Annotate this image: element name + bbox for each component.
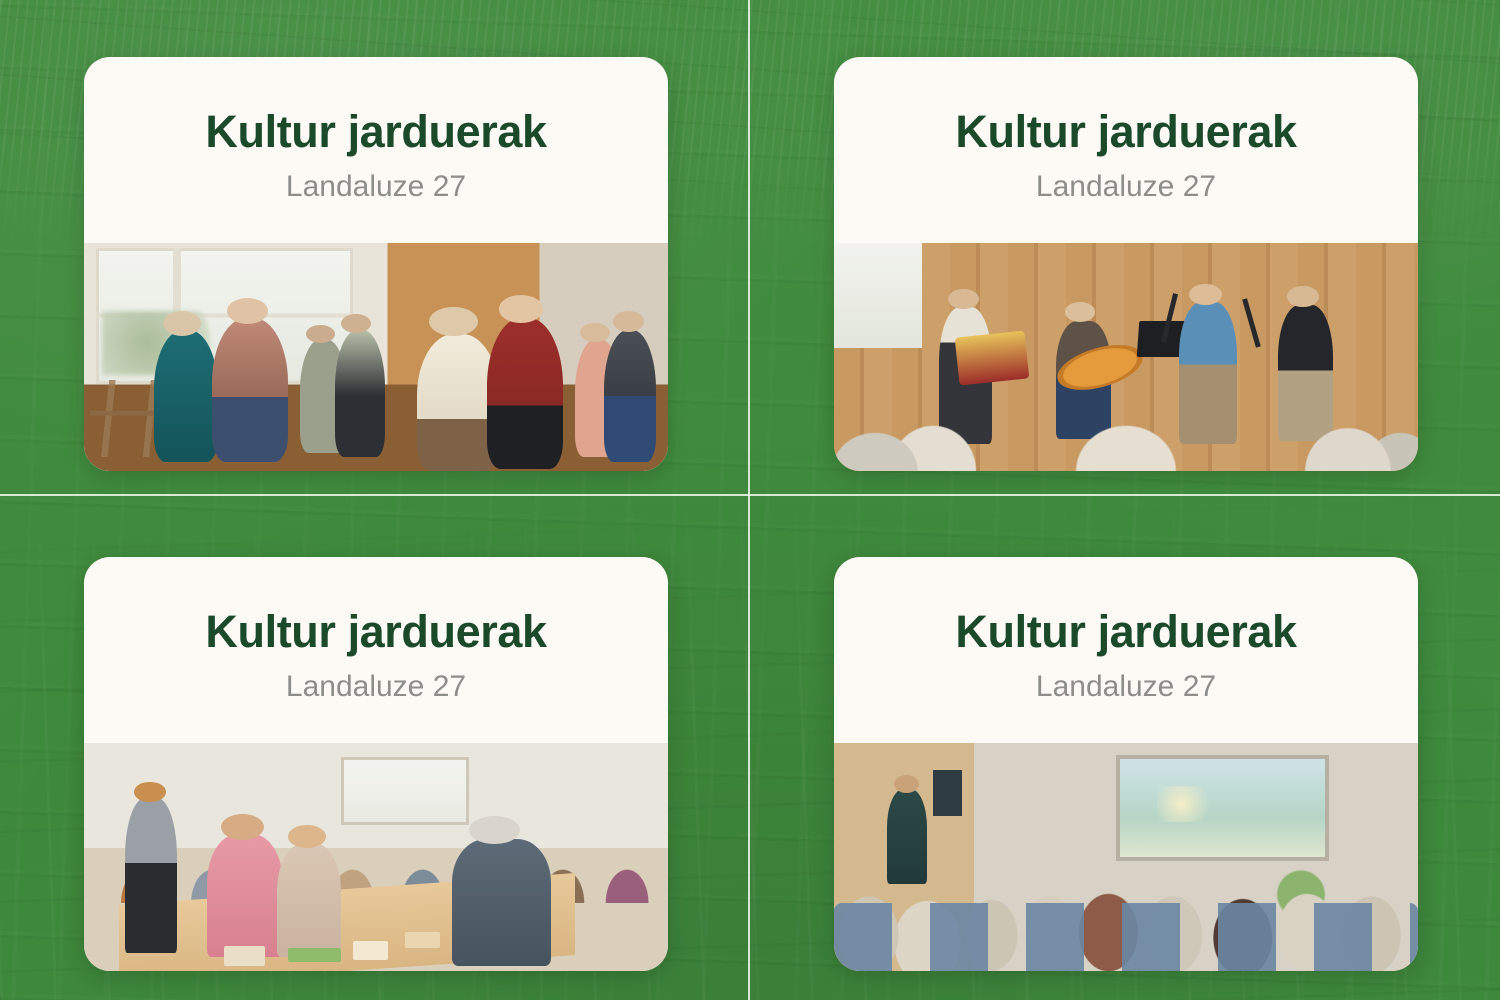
- card-header: Kultur jarduerak Landaluze 27: [84, 57, 668, 243]
- panel-top-left[interactable]: Kultur jarduerak Landaluze 27: [0, 0, 750, 500]
- craft-workshop-photo: [84, 743, 668, 971]
- card-header: Kultur jarduerak Landaluze 27: [834, 557, 1418, 743]
- seniors-dancing-photo: [84, 243, 668, 471]
- panel-bottom-right[interactable]: Kultur jarduerak Landaluze 27: [750, 500, 1500, 1000]
- card-subtitle: Landaluze 27: [286, 172, 466, 202]
- card-title: Kultur jarduerak: [955, 109, 1296, 154]
- live-music-performance-photo: [834, 243, 1418, 471]
- card-header: Kultur jarduerak Landaluze 27: [84, 557, 668, 743]
- card-title: Kultur jarduerak: [205, 109, 546, 154]
- card-subtitle: Landaluze 27: [1036, 672, 1216, 702]
- card-title: Kultur jarduerak: [205, 609, 546, 654]
- card-title: Kultur jarduerak: [955, 609, 1296, 654]
- activity-card[interactable]: Kultur jarduerak Landaluze 27: [834, 557, 1418, 971]
- panel-divider-vertical: [748, 0, 750, 1000]
- lecture-presentation-photo: [834, 743, 1418, 971]
- panel-divider-horizontal: [0, 494, 1500, 496]
- activity-card[interactable]: Kultur jarduerak Landaluze 27: [84, 557, 668, 971]
- panel-bottom-left[interactable]: Kultur jarduerak Landaluze 27: [0, 500, 750, 1000]
- activity-card[interactable]: Kultur jarduerak Landaluze 27: [84, 57, 668, 471]
- panel-top-right[interactable]: Kultur jarduerak Landaluze 27: [750, 0, 1500, 500]
- card-subtitle: Landaluze 27: [1036, 172, 1216, 202]
- activity-card[interactable]: Kultur jarduerak Landaluze 27: [834, 57, 1418, 471]
- card-header: Kultur jarduerak Landaluze 27: [834, 57, 1418, 243]
- card-subtitle: Landaluze 27: [286, 672, 466, 702]
- screenshot-stage: Kultur jarduerak Landaluze 27: [0, 0, 1500, 1000]
